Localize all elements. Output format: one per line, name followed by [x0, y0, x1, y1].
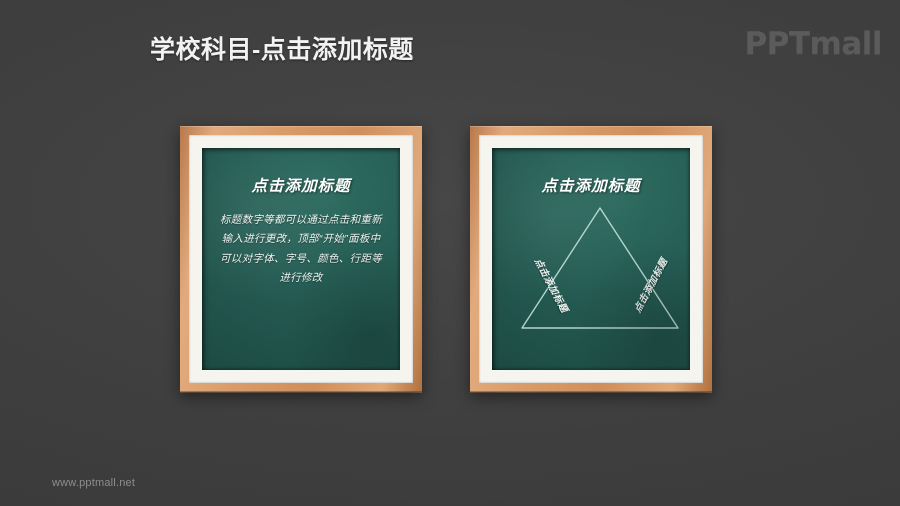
footer-url[interactable]: www.pptmall.net: [52, 477, 135, 489]
left-board-heading[interactable]: 点击添加标题: [202, 174, 400, 196]
left-board[interactable]: 点击添加标题 标题数字等都可以通过点击和重新输入进行更改，顶部“开始”面板中可以…: [180, 126, 422, 392]
triangle-outline-icon: [492, 194, 690, 370]
board-frame-wood: 点击添加标题 点击添加标题 点击添加标题 点击添加标题: [470, 126, 712, 392]
right-board-heading[interactable]: 点击添加标题: [492, 174, 690, 196]
right-board[interactable]: 点击添加标题 点击添加标题 点击添加标题 点击添加标题: [470, 126, 712, 392]
board-surface-chalkboard: 点击添加标题 点击添加标题 点击添加标题 点击添加标题: [492, 148, 690, 370]
left-board-body-text[interactable]: 标题数字等都可以通过点击和重新输入进行更改，顶部“开始”面板中可以对字体、字号、…: [218, 211, 384, 289]
board-matte: 点击添加标题 标题数字等都可以通过点击和重新输入进行更改，顶部“开始”面板中可以…: [189, 135, 413, 383]
board-stage: 点击添加标题 标题数字等都可以通过点击和重新输入进行更改，顶部“开始”面板中可以…: [0, 0, 900, 506]
triangle-diagram: 点击添加标题 点击添加标题 点击添加标题: [492, 194, 690, 370]
board-matte: 点击添加标题 点击添加标题 点击添加标题 点击添加标题: [479, 135, 703, 383]
board-frame-wood: 点击添加标题 标题数字等都可以通过点击和重新输入进行更改，顶部“开始”面板中可以…: [180, 126, 422, 392]
board-surface-chalkboard: 点击添加标题 标题数字等都可以通过点击和重新输入进行更改，顶部“开始”面板中可以…: [202, 148, 400, 370]
slide-canvas: 学校科目-点击添加标题 PPTmall 点击添加标题: [0, 0, 900, 506]
triangle-label-bottom[interactable]: 点击添加标题: [492, 368, 690, 370]
